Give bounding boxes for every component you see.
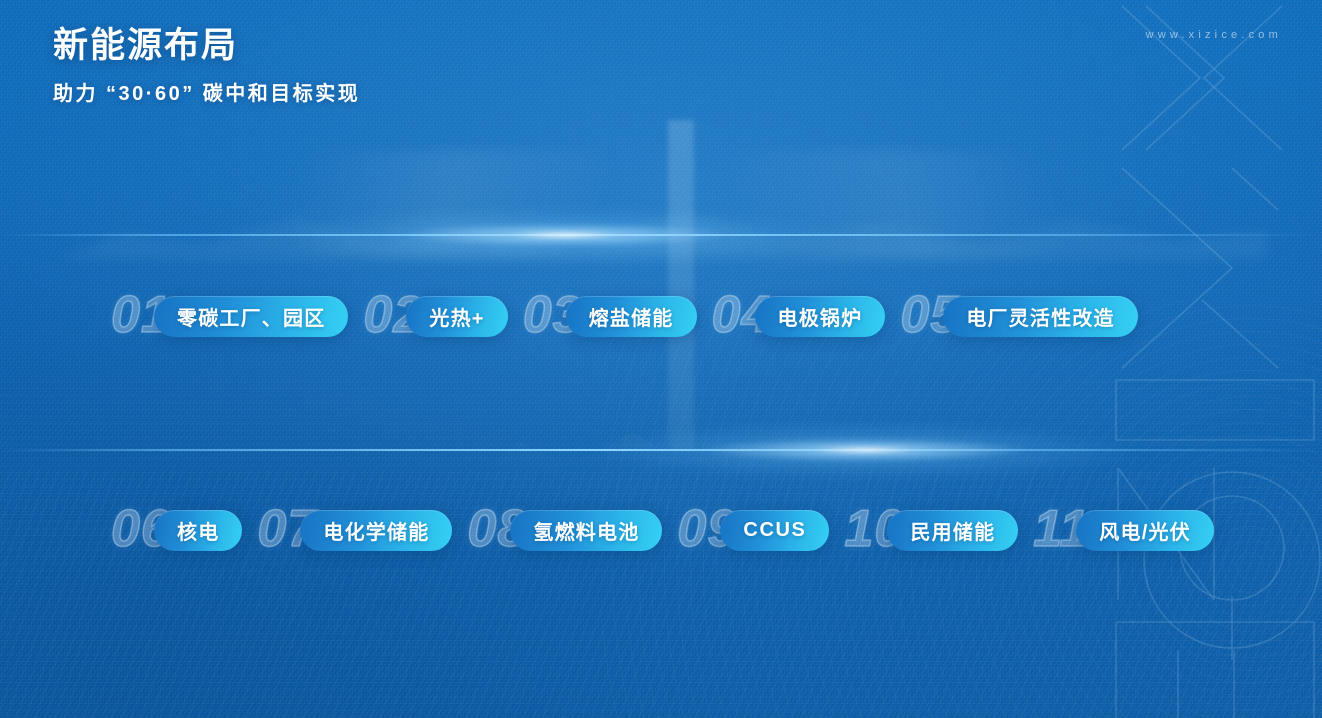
category-pill[interactable]: 核电	[154, 510, 242, 551]
category-pill[interactable]: 零碳工厂、园区	[154, 296, 348, 337]
divider-line-top	[0, 234, 1322, 236]
category-item[interactable]: 01零碳工厂、园区	[112, 286, 348, 346]
slide-canvas: 新能源布局 助力 “30·60” 碳中和目标实现 www.xizice.com …	[0, 0, 1322, 718]
category-pill[interactable]: 氢燃料电池	[510, 510, 662, 551]
category-pill[interactable]: 民用储能	[887, 510, 1018, 551]
page-title: 新能源布局	[53, 24, 360, 68]
background-diagonal-texture	[0, 0, 1322, 718]
category-item[interactable]: 10民用储能	[845, 500, 1018, 560]
divider-glow-core-top	[400, 223, 730, 247]
category-pill[interactable]: 电厂灵活性改造	[943, 296, 1137, 337]
background-mountain-silhouette	[0, 150, 1322, 260]
category-item[interactable]: 04电极锅炉	[713, 286, 886, 346]
category-item[interactable]: 08氢燃料电池	[468, 500, 662, 560]
category-item[interactable]: 11风电/光伏	[1034, 500, 1214, 560]
page-subtitle: 助力 “30·60” 碳中和目标实现	[53, 77, 360, 106]
category-pill[interactable]: 熔盐储能	[566, 296, 697, 337]
category-pill[interactable]: 电极锅炉	[755, 296, 886, 337]
category-item[interactable]: 02光热+	[364, 286, 507, 346]
divider-glow-halo-bottom	[585, 423, 1145, 479]
background-plant-silhouette	[380, 370, 940, 490]
category-item[interactable]: 05电厂灵活性改造	[901, 286, 1137, 346]
divider-glow-core-bottom	[700, 438, 1030, 462]
site-watermark: www.xizice.com	[1146, 29, 1282, 41]
divider-glow-halo-top	[285, 208, 845, 264]
category-row-bottom: 06核电07电化学储能08氢燃料电池09CCUS10民用储能11风电/光伏	[0, 500, 1322, 560]
category-pill[interactable]: CCUS	[720, 510, 829, 551]
background-dot-texture	[0, 0, 1322, 718]
category-row-top: 01零碳工厂、园区02光热+03熔盐储能04电极锅炉05电厂灵活性改造	[0, 286, 1322, 346]
header: 新能源布局 助力 “30·60” 碳中和目标实现	[53, 24, 360, 106]
category-item[interactable]: 07电化学储能	[258, 500, 452, 560]
divider-line-bottom	[0, 449, 1322, 451]
decorative-letters-watermark	[1082, 0, 1322, 718]
category-item[interactable]: 03熔盐储能	[524, 286, 697, 346]
category-pill[interactable]: 电化学储能	[300, 510, 452, 551]
category-item[interactable]: 06核电	[112, 500, 242, 560]
background-tower-silhouette	[668, 120, 694, 450]
category-item[interactable]: 09CCUS	[678, 500, 829, 560]
category-pill[interactable]: 光热+	[406, 296, 507, 337]
category-pill[interactable]: 风电/光伏	[1076, 510, 1214, 551]
